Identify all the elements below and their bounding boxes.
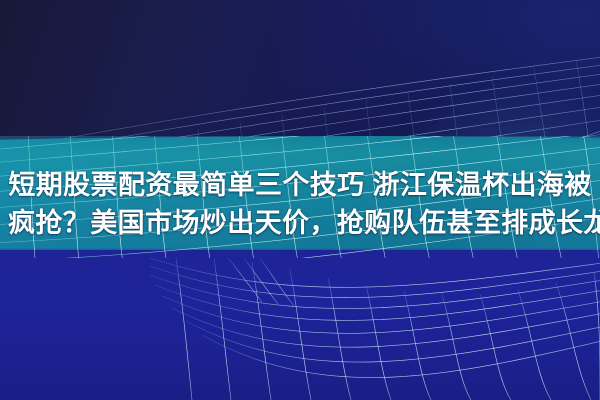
headline: 短期股票配资最简单三个技巧 浙江保温杯出海被 疯抢？美国市场炒出天价，抢购队伍甚… [0,166,600,242]
headline-line-1: 短期股票配资最简单三个技巧 浙江保温杯出海被 [8,166,592,204]
blue-base-block [0,250,600,400]
article-banner: 短期股票配资最简单三个技巧 浙江保温杯出海被 疯抢？美国市场炒出天价，抢购队伍甚… [0,0,600,400]
headline-line-2: 疯抢？美国市场炒出天价，抢购队伍甚至排成长龙 [8,204,592,242]
